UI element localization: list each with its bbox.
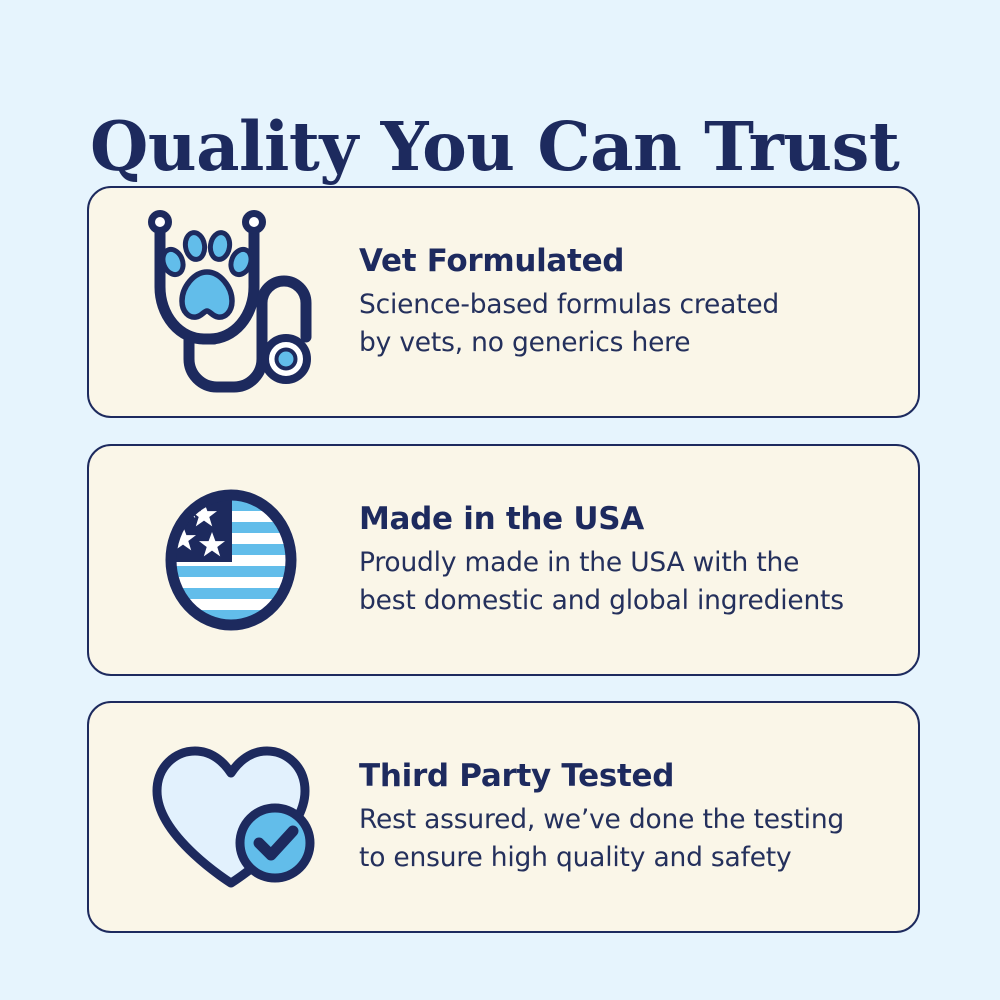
feature-card-third-party-tested: Third Party Tested Rest assured, we’ve d… xyxy=(87,701,920,933)
quality-badges-page: Quality You Can Trust xyxy=(0,0,1000,1000)
feature-card-vet-formulated: Vet Formulated Science-based formulas cr… xyxy=(87,186,920,418)
card-body-line: Proudly made in the USA with the xyxy=(359,544,894,582)
card-body-line: Science-based formulas created xyxy=(359,286,894,324)
card-heading: Third Party Tested xyxy=(359,757,894,795)
card-heading: Made in the USA xyxy=(359,500,894,538)
stethoscope-paw-icon xyxy=(89,188,359,416)
card-body-line: Rest assured, we’ve done the testing xyxy=(359,801,894,839)
page-title: Quality You Can Trust xyxy=(90,107,930,187)
card-body: Science-based formulas created by vets, … xyxy=(359,286,894,362)
heart-check-icon xyxy=(89,703,359,931)
card-body-line: by vets, no generics here xyxy=(359,324,894,362)
card-body: Proudly made in the USA with the best do… xyxy=(359,544,894,620)
usa-flag-circle-icon xyxy=(89,446,359,674)
card-text-block: Made in the USA Proudly made in the USA … xyxy=(359,500,918,620)
card-body: Rest assured, we’ve done the testing to … xyxy=(359,801,894,877)
card-heading: Vet Formulated xyxy=(359,242,894,280)
card-body-line: best domestic and global ingredients xyxy=(359,582,894,620)
card-text-block: Third Party Tested Rest assured, we’ve d… xyxy=(359,757,918,877)
card-body-line: to ensure high quality and safety xyxy=(359,839,894,877)
card-text-block: Vet Formulated Science-based formulas cr… xyxy=(359,242,918,362)
feature-card-made-in-usa: Made in the USA Proudly made in the USA … xyxy=(87,444,920,676)
